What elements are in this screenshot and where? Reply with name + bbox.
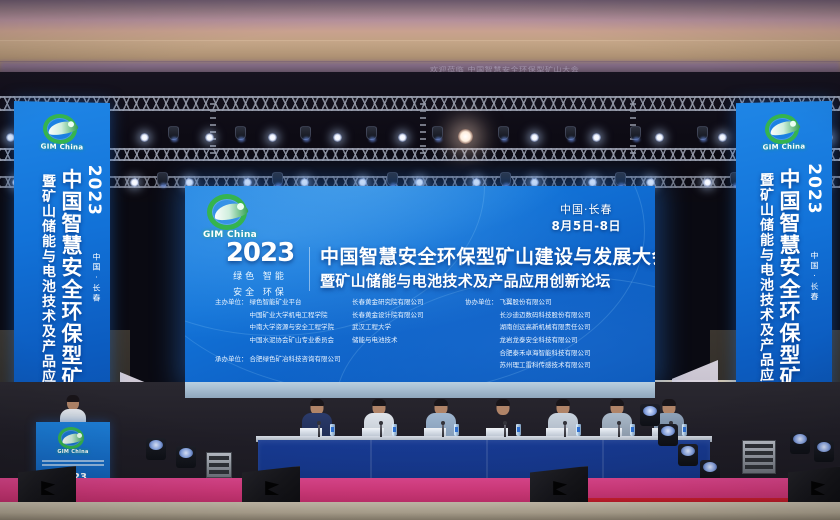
gim-logo-icon: GIM China [757,111,811,156]
gim-logo-icon: GIM China [201,194,259,242]
equipment-rack [742,440,776,474]
co-organizers-block: 协办单位： 飞翼股份有限公司 长沙迪迈数码科技股份有限公司 湖南创远高新机械有限… [465,296,591,372]
conference-stage-photo: 欢迎莅临 中国智慧安全环保型矿山大会 [0,0,840,520]
organizers-column-one: 绿色智能矿业平台 中国矿业大学机电工程学院 中南大学资源与安全工程学院 中国水泥… [250,296,335,347]
microphone [564,424,566,437]
logo-text: GIM China [35,142,89,151]
gim-logo-icon: GIM China [35,111,89,156]
water-bottle [392,424,397,436]
co-organizer-name: 合肥泰禾卓海智能科技有限公司 [500,347,591,360]
truss-upright [420,96,426,162]
water-bottle [330,424,335,436]
organizers-label: 主办单位： [215,296,248,347]
ceiling-beam [0,40,840,62]
organizer-name: 储能与电池技术 [352,334,424,347]
host-label: 承办单位： [215,353,248,363]
organizer-name: 武汉工程大学 [352,321,424,334]
moving-head-light [790,432,810,454]
moving-head-light [176,446,196,468]
moving-head-light [658,424,678,446]
banner-left-city: 中国·长春 [91,253,102,304]
sponsor-credits-area: 主办单位： 绿色智能矿业平台 中国矿业大学机电工程学院 中南大学资源与安全工程学… [215,296,641,363]
organizer-name: 中国水泥协会矿山专业委员会 [250,334,335,347]
microphone [618,424,620,437]
co-organizers-list: 飞翼股份有限公司 长沙迪迈数码科技股份有限公司 湖南创远高新机械有限责任公司 龙… [500,296,591,372]
organizers-column-two: 长春黄金研究院有限公司 长春黄金设计院有限公司 武汉工程大学 储能与电池技术 [352,296,424,347]
event-location-block: 中国·长春 8月5日-8日 [551,202,621,235]
microphone [504,424,506,437]
co-organizers-label: 协办单位： [465,296,498,372]
event-title-main: 中国智慧安全环保型矿山建设与发展大会 [320,246,655,270]
water-bottle [454,424,459,436]
microphone [318,424,320,437]
organizer-name: 绿色智能矿业平台 [250,296,335,309]
microphone [442,424,444,437]
moving-head-light [814,440,834,462]
co-organizer-name: 龙岩龙泰安全科技有限公司 [500,334,591,347]
title-divider [309,247,310,291]
host-name: 合肥绿色矿冶科技咨询有限公司 [250,353,341,363]
co-organizer-name: 苏州理工雷科传感技术有限公司 [500,359,591,372]
equipment-rack [206,452,232,478]
ceiling: 欢迎莅临 中国智慧安全环保型矿山大会 [0,0,840,78]
event-year-block: 2023 绿色 智能 安全 环保 [221,240,299,298]
banner-right-year: 2023 [804,163,824,215]
led-screen: GIM China 中国·长春 8月5日-8日 2023 绿色 智能 安全 环保… [185,186,655,382]
moving-head-light [678,444,698,466]
event-title-sub: 暨矿山储能与电池技术及产品应用创新论坛 [320,272,655,292]
water-bottle [516,424,521,436]
backdrop-lower-edge [185,382,655,398]
banner-left-year: 2023 [84,164,104,216]
co-organizer-name: 长沙迪迈数码科技股份有限公司 [500,309,591,322]
moving-head-light [640,404,660,426]
water-bottle [630,424,635,436]
gim-logo-icon: GIM China [53,427,93,459]
organizer-name: 长春黄金设计院有限公司 [352,309,424,322]
water-bottle [576,424,581,436]
organizer-name: 中国矿业大学机电工程学院 [250,309,335,322]
moving-head-light [146,438,166,460]
organizer-name: 中南大学资源与安全工程学院 [250,321,335,334]
water-bottle [682,424,687,436]
co-organizer-name: 湖南创远高新机械有限责任公司 [500,321,591,334]
event-date: 8月5日-8日 [551,218,621,235]
event-year: 2023 [221,240,299,266]
microphone [380,424,382,437]
organizer-name: 长春黄金研究院有限公司 [352,296,424,309]
event-city: 中国·长春 [551,202,621,218]
truss-upright [210,96,216,162]
stage-apron [0,502,840,520]
logo-text: GIM China [757,142,811,151]
event-slogan-line1: 绿色 智能 [221,269,299,282]
banner-right-city: 中国·长春 [809,251,820,302]
co-organizer-name: 飞翼股份有限公司 [500,296,591,309]
logo-text: GIM China [53,449,93,455]
event-title-block: 2023 绿色 智能 安全 环保 中国智慧安全环保型矿山建设与发展大会 暨矿山储… [221,240,655,298]
